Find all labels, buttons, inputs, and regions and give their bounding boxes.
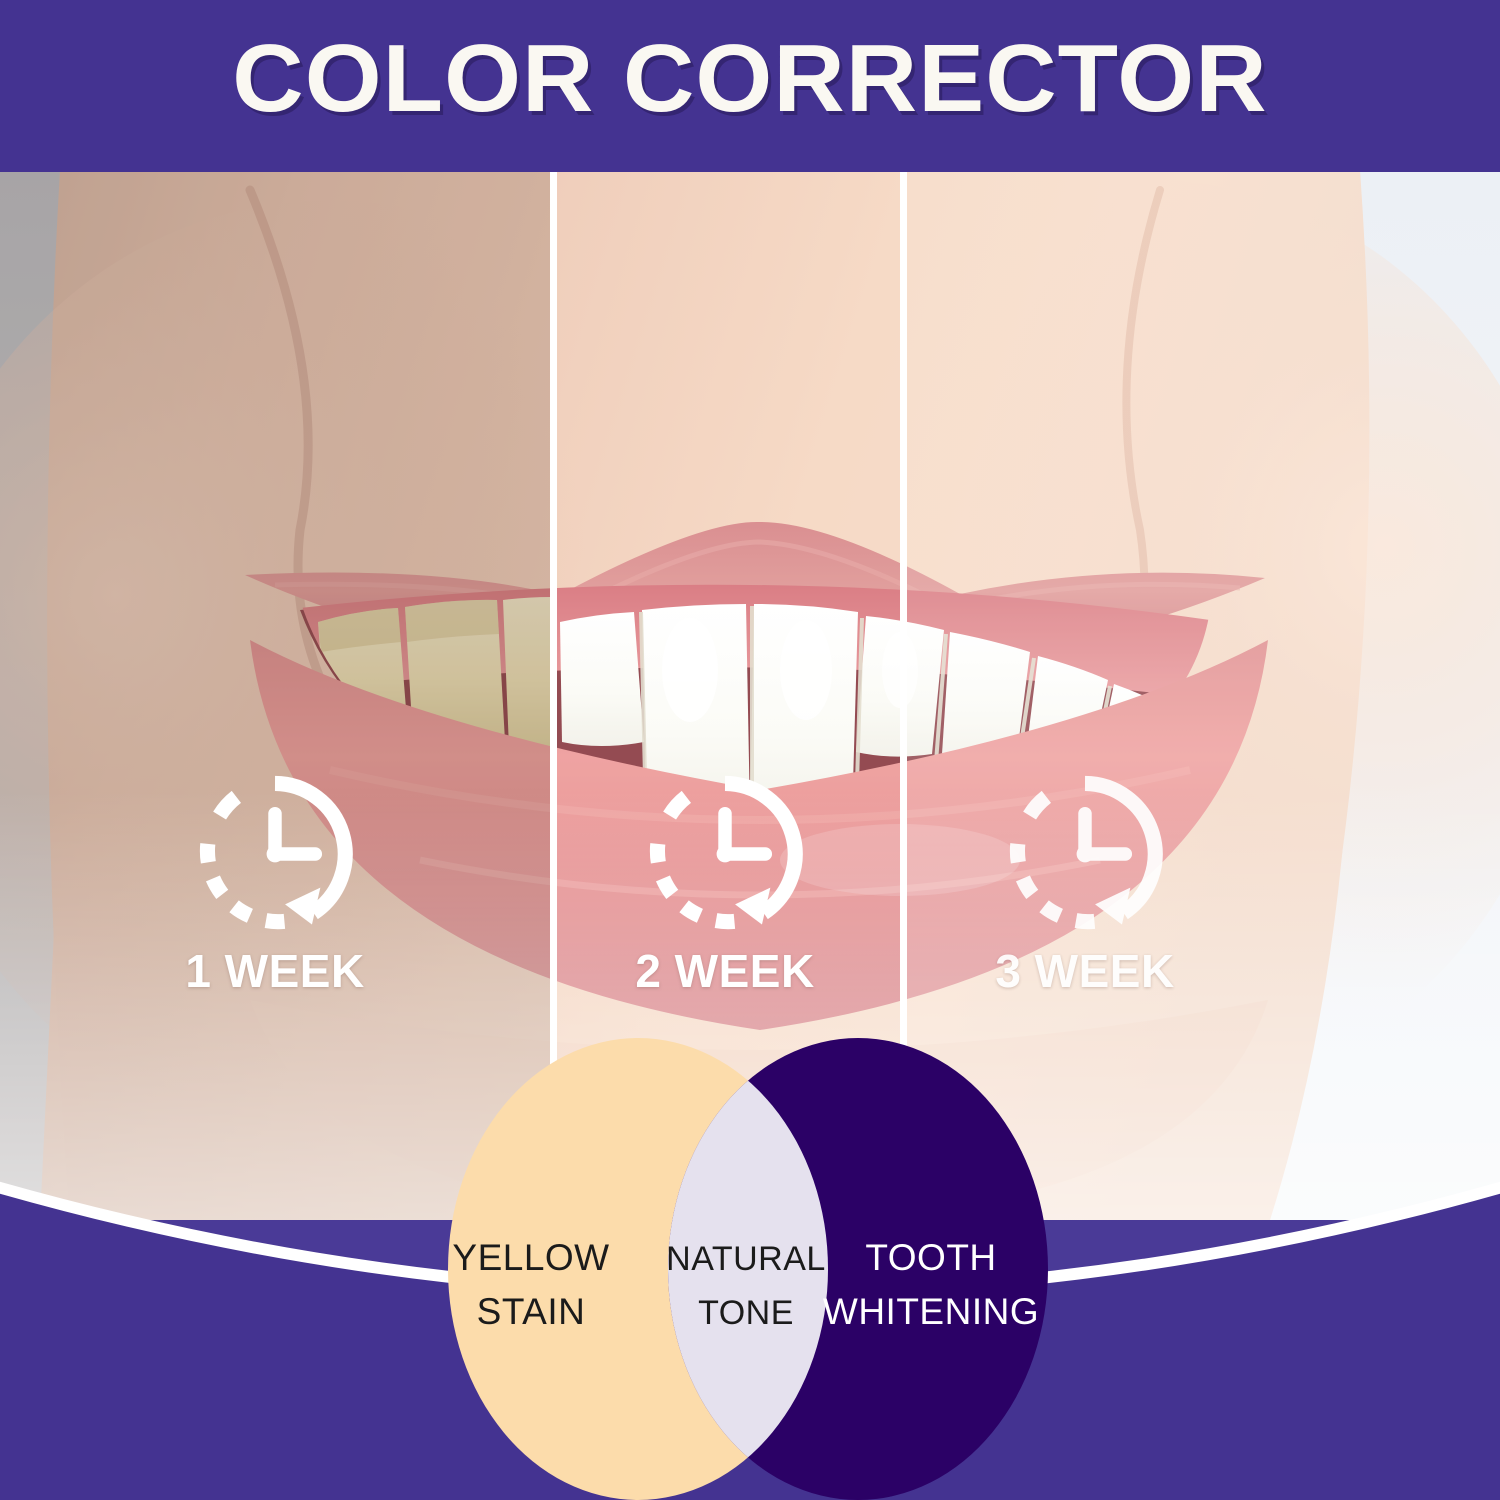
clock-arrow-icon xyxy=(191,770,359,938)
timeline-step-2: 2 WEEK xyxy=(550,770,900,1000)
header-band: COLOR CORRECTOR xyxy=(0,0,1500,172)
venn-right-label-line1: TOOTH xyxy=(865,1237,996,1278)
page-title: COLOR CORRECTOR xyxy=(0,24,1500,134)
clock-arrow-icon xyxy=(1001,770,1169,938)
venn-right-label-line2: WHITENING xyxy=(823,1291,1039,1332)
venn-left-label-line1: YELLOW xyxy=(452,1237,609,1278)
venn-overlap-label-line2: TONE xyxy=(698,1294,794,1332)
clock-arrow-icon xyxy=(641,770,809,938)
timeline-step-1-label: 1 WEEK xyxy=(185,944,364,998)
venn-left-label-line2: STAIN xyxy=(477,1291,586,1332)
venn-diagram: YELLOW STAIN NATURAL TONE TOOTH WHITENIN… xyxy=(398,1038,1098,1500)
timeline-step-1: 1 WEEK xyxy=(0,770,550,1000)
venn-svg: YELLOW STAIN NATURAL TONE TOOTH WHITENIN… xyxy=(398,1038,1098,1500)
venn-overlap-label-line1: NATURAL xyxy=(666,1240,826,1278)
timeline-step-3: 3 WEEK xyxy=(900,770,1500,1000)
timeline-step-3-label: 3 WEEK xyxy=(995,944,1174,998)
product-infographic: COLOR CORRECTOR 1 WEEK xyxy=(0,0,1500,1500)
timeline-step-2-label: 2 WEEK xyxy=(635,944,814,998)
timeline-row: 1 WEEK 2 WEEK xyxy=(0,770,1500,1000)
